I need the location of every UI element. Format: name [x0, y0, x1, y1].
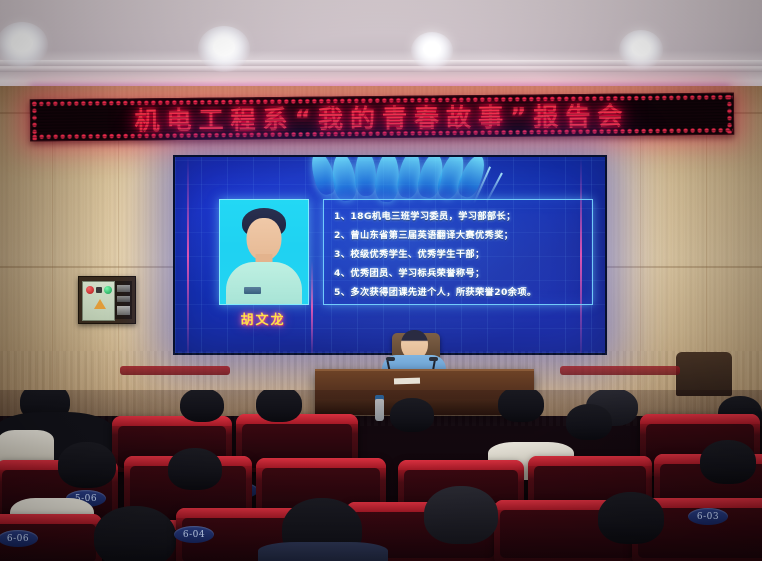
led-banner-text: 机电工程系“我的青春故事”报告会: [31, 94, 733, 141]
downlight-core: [632, 40, 651, 56]
audience-head: [498, 390, 544, 422]
breaker-row: [117, 306, 130, 315]
auditorium-scene: 机电工程系“我的青春故事”报告会: [0, 0, 762, 561]
slide-bullet-5: 5、多次获得团课先进个人，所获荣誉20余项。: [334, 284, 537, 298]
audience-person-torso: [258, 542, 388, 561]
audience-person-torso: [0, 430, 54, 464]
breaker-row: [117, 296, 130, 302]
speaker-portrait-photo: [219, 199, 309, 305]
breaker-row: [117, 285, 130, 292]
audience-seating-area: 5-04 5-06: [0, 390, 762, 561]
screen-accent-line: [187, 157, 189, 353]
projection-screen: 胡文龙 1、18G机电三班学习委员，学习部部长； 2、曾山东省第三届英语翻译大赛…: [173, 155, 607, 355]
downlight-core: [11, 34, 33, 52]
seat-number-badge: 6-04: [174, 526, 214, 543]
audience-head: [180, 390, 224, 422]
slide-bullet-1: 1、18G机电三班学习委员，学习部部长；: [334, 208, 516, 222]
speaker-name-label: 胡文龙: [219, 309, 307, 328]
slide-bullet-3: 3、校级优秀学生、优秀学生干部；: [334, 246, 485, 260]
screen-accent-line: [311, 261, 313, 353]
front-row-seat-rail-right: [560, 366, 680, 375]
control-panel-breakers[interactable]: [115, 281, 132, 319]
audience-head: [94, 506, 176, 561]
microphone-head: [429, 357, 438, 361]
seat-number-badge: 6-03: [688, 508, 728, 525]
audience-head: [566, 404, 612, 440]
downlight-core: [213, 38, 235, 56]
portrait-shirt-detail: [244, 287, 261, 294]
slide-bullet-4: 4、优秀团员、学习标兵荣誉称号；: [334, 265, 485, 279]
wall-control-panel[interactable]: [78, 276, 136, 324]
ceiling-downlight: [411, 32, 453, 70]
audience-head: [58, 442, 116, 488]
start-button-green[interactable]: [104, 286, 112, 294]
ceiling: [0, 0, 762, 72]
ceiling-downlight: [619, 30, 663, 70]
audience-head: [168, 448, 222, 490]
slide-bullet-2: 2、曾山东省第三届英语翻译大赛优秀奖；: [334, 227, 513, 241]
audience-head: [598, 492, 664, 544]
slide-bullet-box: 1、18G机电三班学习委员，学习部部长； 2、曾山东省第三届英语翻译大赛优秀奖；…: [323, 199, 593, 305]
seat-headrail: [640, 414, 760, 424]
decor-leaf: [354, 155, 377, 196]
seat-headrail: [398, 460, 524, 470]
audience-head: [700, 440, 756, 484]
portrait-shirt: [226, 262, 302, 304]
downlight-core: [423, 42, 441, 57]
stop-button-red[interactable]: [86, 286, 94, 294]
ceiling-downlight: [198, 26, 250, 72]
seat-number-badge: 6-06: [0, 530, 38, 547]
front-row-seat-rail-left: [120, 366, 230, 375]
seat-headrail: [256, 458, 386, 468]
control-panel-face: [82, 281, 115, 321]
audience-head: [256, 390, 302, 422]
audience-head: [390, 398, 434, 432]
indicator-lamp: [96, 287, 102, 293]
audience-head: [424, 486, 498, 544]
led-banner-display: 机电工程系“我的青春故事”报告会: [30, 93, 734, 142]
warning-triangle-icon: [94, 299, 106, 309]
speaker-papers: [394, 378, 420, 385]
seat-headrail: [528, 456, 652, 466]
seat-headrail: [0, 514, 102, 524]
microphone-head: [386, 357, 395, 361]
